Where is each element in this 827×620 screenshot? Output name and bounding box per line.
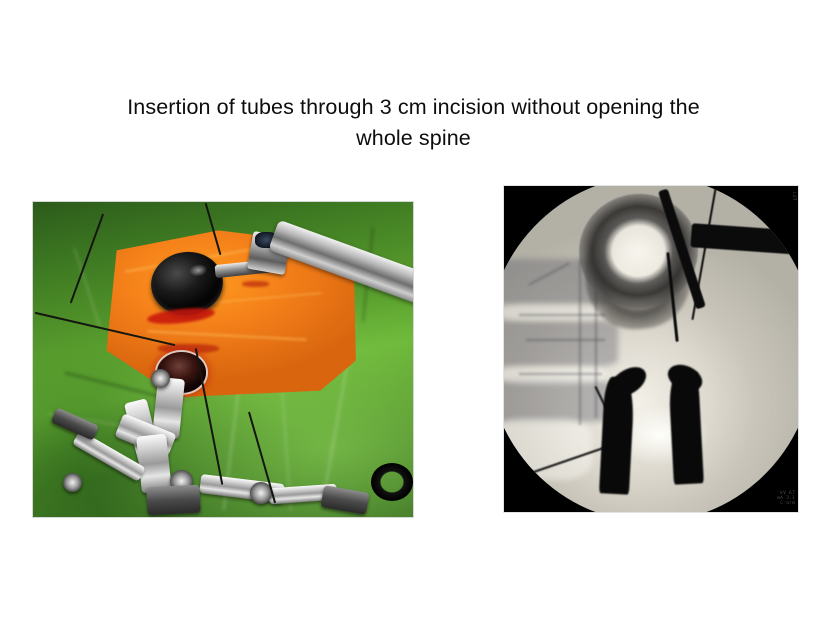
- disc-space-line: [519, 314, 605, 316]
- fluoroscopy-xray: LUT kV 67 mA 3.1 C-arm: [504, 186, 798, 512]
- intraoperative-photo: [33, 202, 413, 517]
- page-title: Insertion of tubes through 3 cm incision…: [60, 92, 767, 154]
- retractor-arm-clamp: [146, 484, 201, 515]
- disc-space-line: [526, 339, 605, 341]
- wire-loop: [371, 463, 413, 501]
- retractor-arm-joint: [151, 369, 170, 388]
- title-line-1: Insertion of tubes through 3 cm incision…: [60, 92, 767, 123]
- vertebral-shadow: [504, 321, 618, 366]
- slide-canvas: Insertion of tubes through 3 cm incision…: [0, 0, 827, 620]
- xray-overlay-bottom-right: kV 67 mA 3.1 C-arm: [777, 491, 795, 506]
- xray-overlay-right: LUT: [791, 192, 796, 201]
- posterior-line: [579, 259, 581, 425]
- tube-highlight: [188, 263, 208, 278]
- title-line-2: whole spine: [60, 123, 767, 154]
- disc-space-line: [519, 373, 601, 375]
- blood-smear: [242, 281, 269, 287]
- fluoroscopy-field-of-view: [504, 186, 798, 512]
- soft-tissue-bright: [504, 418, 592, 480]
- blood-smear: [158, 344, 219, 353]
- vertebral-endplate: [504, 304, 605, 321]
